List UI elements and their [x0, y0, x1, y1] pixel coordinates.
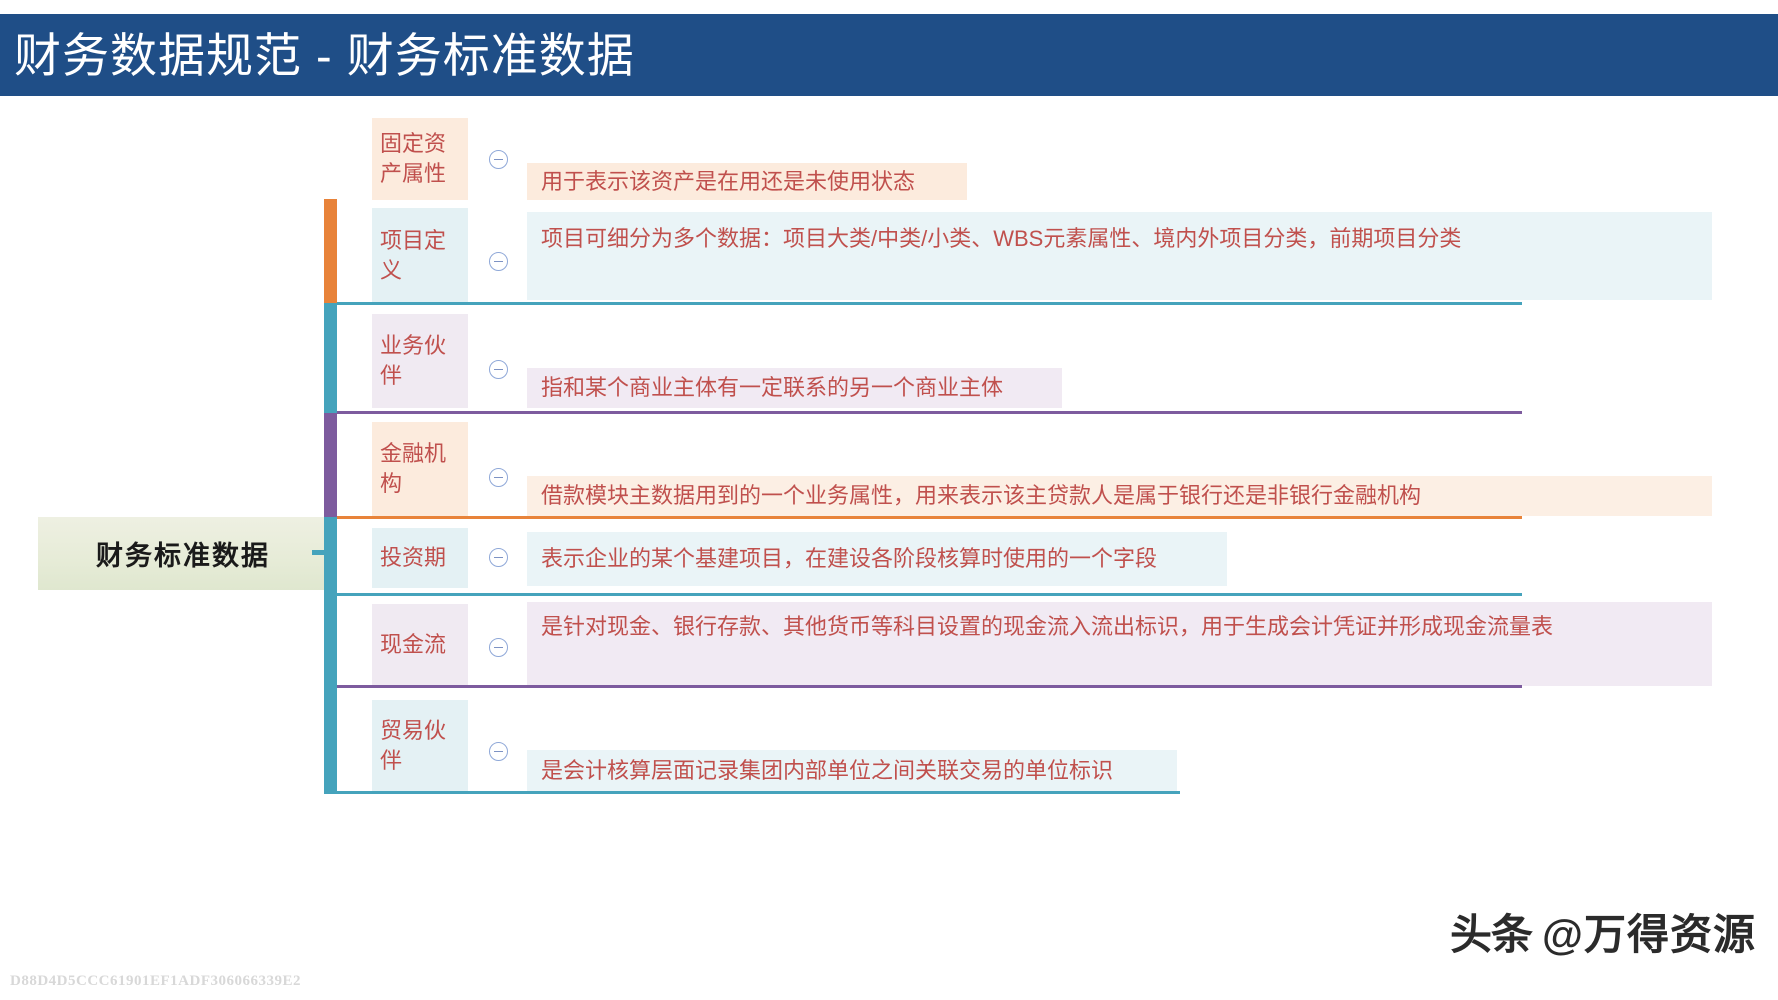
node-label-text: 现金流 — [380, 630, 446, 660]
row-divider — [337, 516, 1522, 519]
spine-segment-purple — [324, 413, 337, 517]
mindmap-row[interactable]: 固定资产属性 用于表示该资产是在用还是未使用状态 — [337, 118, 1757, 200]
spine-segment-orange-top — [324, 199, 337, 303]
row-divider — [337, 411, 1522, 414]
spine-segment-teal-lower — [324, 517, 337, 791]
node-description: 表示企业的某个基建项目，在建设各阶段核算时使用的一个字段 — [527, 532, 1227, 586]
node-description-text: 借款模块主数据用到的一个业务属性，用来表示该主贷款人是属于银行还是非银行金融机构 — [541, 479, 1421, 513]
node-label-chip[interactable]: 业务伙伴 — [372, 314, 468, 408]
footer-hash: D88D4D5CCC61901EF1ADF306066339E2 — [10, 973, 301, 990]
minus-circle-icon[interactable] — [489, 252, 508, 271]
node-label-chip[interactable]: 金融机构 — [372, 422, 468, 516]
minus-circle-icon[interactable] — [489, 360, 508, 379]
minus-circle-icon[interactable] — [489, 150, 508, 169]
node-description: 项目可细分为多个数据：项目大类/中类/小类、WBS元素属性、境内外项目分类，前期… — [527, 212, 1712, 300]
mindmap-row[interactable]: 投资期 表示企业的某个基建项目，在建设各阶段核算时使用的一个字段 — [337, 524, 1757, 592]
mindmap-row[interactable]: 业务伙伴 指和某个商业主体有一定联系的另一个商业主体 — [337, 310, 1757, 410]
node-description: 借款模块主数据用到的一个业务属性，用来表示该主贷款人是属于银行还是非银行金融机构 — [527, 476, 1712, 516]
mindmap-canvas: 财务标准数据 固定资产属性 用于表示该资产是在用还是未使用状态 项目定义 项目可… — [0, 96, 1778, 1000]
node-description: 是会计核算层面记录集团内部单位之间关联交易的单位标识 — [527, 750, 1177, 792]
node-label-text: 金融机构 — [380, 439, 460, 499]
node-description-text: 表示企业的某个基建项目，在建设各阶段核算时使用的一个字段 — [541, 542, 1157, 576]
node-label-text: 投资期 — [380, 543, 446, 573]
row-divider — [337, 685, 1522, 688]
node-description-text: 项目可细分为多个数据：项目大类/中类/小类、WBS元素属性、境内外项目分类，前期… — [541, 222, 1461, 256]
row-divider — [337, 593, 1522, 596]
node-label-chip[interactable]: 贸易伙伴 — [372, 700, 468, 792]
node-description-text: 用于表示该资产是在用还是未使用状态 — [541, 165, 915, 199]
node-label-chip[interactable]: 投资期 — [372, 528, 468, 588]
node-description: 是针对现金、银行存款、其他货币等科目设置的现金流入流出标识，用于生成会计凭证并形… — [527, 602, 1712, 686]
root-node-label: 财务标准数据 — [96, 534, 270, 573]
node-label-text: 贸易伙伴 — [380, 716, 460, 776]
row-divider — [337, 302, 1522, 305]
mindmap-row[interactable]: 贸易伙伴 是会计核算层面记录集团内部单位之间关联交易的单位标识 — [337, 694, 1757, 792]
mindmap-row[interactable]: 现金流 是针对现金、银行存款、其他货币等科目设置的现金流入流出标识，用于生成会计… — [337, 600, 1757, 688]
slide-title-bar: 财务数据规范 - 财务标准数据 — [0, 14, 1778, 96]
node-label-chip[interactable]: 项目定义 — [372, 208, 468, 304]
node-description-text: 指和某个商业主体有一定联系的另一个商业主体 — [541, 371, 1003, 405]
watermark: 头条 @万得资源 — [1450, 901, 1756, 962]
spine-segment-teal-upper — [324, 303, 337, 413]
page-title: 财务数据规范 - 财务标准数据 — [0, 32, 635, 79]
node-label-text: 固定资产属性 — [380, 129, 460, 189]
watermark-badge: 头条 — [1450, 901, 1532, 962]
watermark-name: @万得资源 — [1542, 901, 1756, 962]
minus-circle-icon[interactable] — [489, 548, 508, 567]
node-description-text: 是会计核算层面记录集团内部单位之间关联交易的单位标识 — [541, 754, 1113, 788]
node-label-text: 业务伙伴 — [380, 331, 460, 391]
minus-circle-icon[interactable] — [489, 742, 508, 761]
row-divider — [324, 791, 1180, 794]
root-node[interactable]: 财务标准数据 — [38, 517, 328, 590]
mindmap-row[interactable]: 金融机构 借款模块主数据用到的一个业务属性，用来表示该主贷款人是属于银行还是非银… — [337, 418, 1757, 518]
node-description-text: 是针对现金、银行存款、其他货币等科目设置的现金流入流出标识，用于生成会计凭证并形… — [541, 610, 1553, 644]
node-description: 指和某个商业主体有一定联系的另一个商业主体 — [527, 368, 1062, 408]
node-label-chip[interactable]: 固定资产属性 — [372, 118, 468, 200]
mindmap-row[interactable]: 项目定义 项目可细分为多个数据：项目大类/中类/小类、WBS元素属性、境内外项目… — [337, 204, 1757, 304]
minus-circle-icon[interactable] — [489, 468, 508, 487]
node-label-text: 项目定义 — [380, 226, 460, 286]
node-description: 用于表示该资产是在用还是未使用状态 — [527, 163, 967, 200]
minus-circle-icon[interactable] — [489, 638, 508, 657]
node-label-chip[interactable]: 现金流 — [372, 604, 468, 686]
